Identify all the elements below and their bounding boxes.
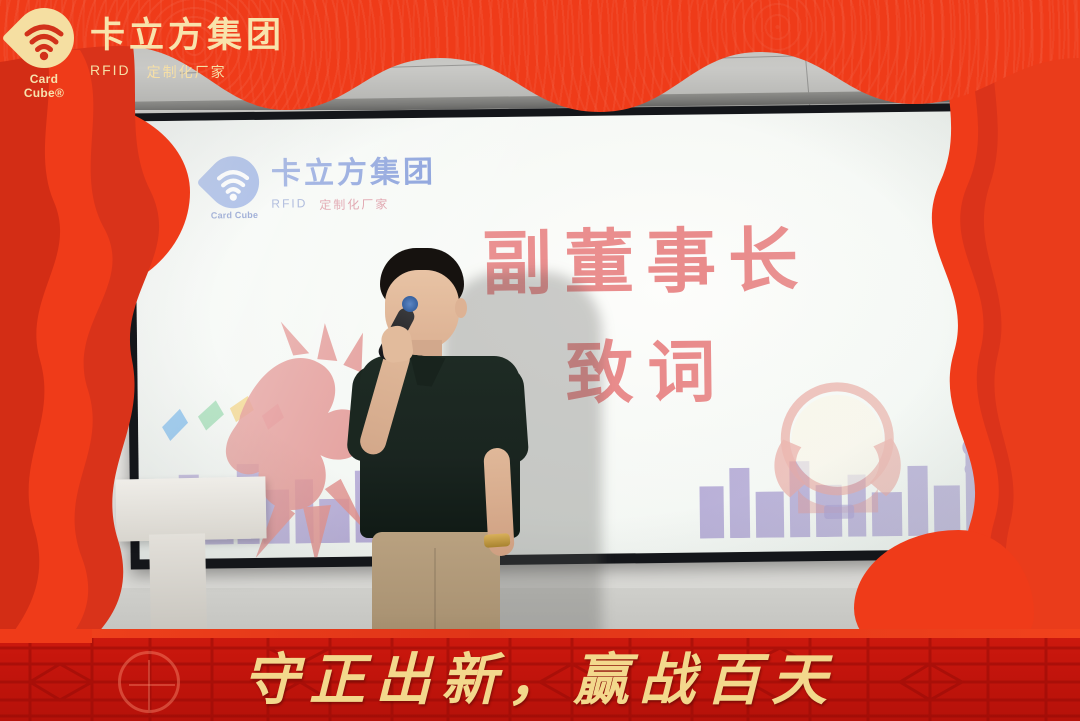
event-photo-stage: Card Cube 卡立方集团 RFID 定制化厂家 副董事长 致词 [0,0,1080,721]
brand-tagline-right: 定制化厂家 [147,62,227,82]
slide-logo-english: Card Cube [203,210,265,221]
podium-leg [149,533,207,630]
wristwatch-icon [484,533,511,548]
slogan-banner: 守正出新，赢战百天 [0,629,1080,721]
brand-english-name: Card Cube® [8,72,80,100]
header-brand-lockup: Card Cube® 卡立方集团 RFID 定制化厂家 [10,8,285,92]
photo-scene: Card Cube 卡立方集团 RFID 定制化厂家 副董事长 致词 [0,0,1080,721]
podium-table [115,476,266,541]
speaker-ear [455,298,467,318]
wifi-pin-icon: Card Cube® [10,8,78,92]
slide-logo-tagline-right: 定制化厂家 [319,195,389,213]
wifi-pin-icon: Card Cube [207,156,260,219]
banner-slogan: 守正出新，赢战百天 [0,629,1080,721]
slide-logo-tagline-left: RFID [271,196,307,213]
brand-wordmark: 卡立方集团 [90,18,285,53]
slide-logo: Card Cube 卡立方集团 RFID 定制化厂家 [207,154,437,219]
brand-tagline-left: RFID [90,62,131,82]
speaker-figure [330,248,560,648]
slide-logo-wordmark: 卡立方集团 [271,158,436,190]
